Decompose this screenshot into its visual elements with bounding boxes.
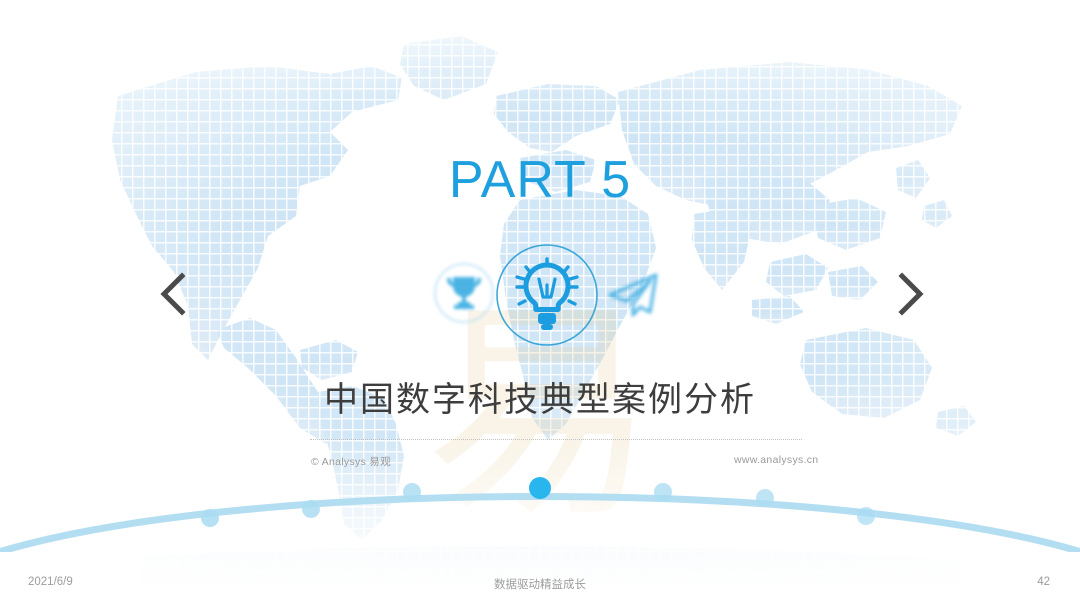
arc-line: [0, 497, 1080, 553]
progress-dot[interactable]: [756, 489, 774, 507]
section-icon-row: [0, 243, 1080, 351]
lightbulb-icon-circle: [495, 243, 599, 347]
trophy-icon: [432, 261, 496, 325]
slide-footer: 2021/6/9 数据驱动精益成长 42: [0, 564, 1080, 608]
progress-dot[interactable]: [654, 483, 672, 501]
progress-arc-svg: [0, 452, 1080, 552]
footer-page-number: 42: [1037, 576, 1050, 588]
divider: [310, 439, 802, 440]
progress-dot-active[interactable]: [529, 477, 551, 499]
part-label: PART 5: [0, 150, 1080, 210]
progress-dot[interactable]: [857, 507, 875, 525]
page-title: 中国数字科技典型案例分析: [0, 372, 1080, 421]
presentation-slide: 易 PART 5: [0, 0, 1080, 608]
footer-slogan: 数据驱动精益成长: [0, 576, 1080, 592]
paper-plane-icon: [600, 261, 664, 325]
progress-dot[interactable]: [201, 509, 219, 527]
progress-dot[interactable]: [403, 483, 421, 501]
progress-dot[interactable]: [302, 500, 320, 518]
progress-arc: [0, 452, 1080, 552]
lightbulb-icon: [495, 243, 599, 347]
